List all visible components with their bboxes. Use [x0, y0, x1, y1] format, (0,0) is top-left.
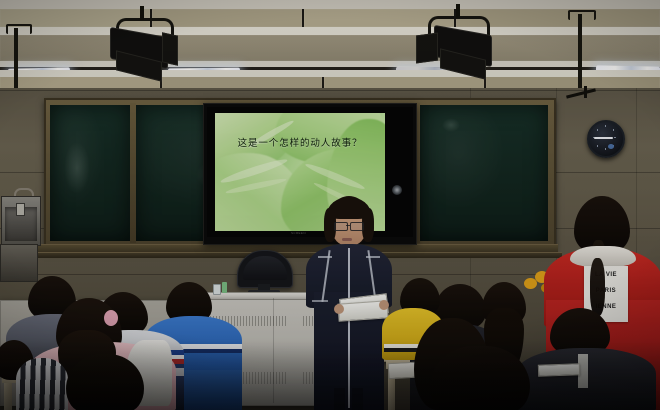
ceiling-beam	[0, 27, 660, 35]
wall-clock	[587, 120, 625, 158]
monitor-screen	[243, 256, 287, 280]
clock-tick	[605, 125, 606, 127]
coat-placket	[348, 248, 350, 408]
screen-logo-icon	[392, 185, 402, 195]
ceiling-beam	[0, 70, 660, 77]
chalk-smudge	[442, 118, 460, 132]
classroom-photo: 这是一个怎样的动人故事？ SCREEN	[0, 0, 660, 410]
soap-dispenser	[16, 203, 25, 216]
stage-light-barn-door	[162, 32, 178, 65]
teacher-glasses	[350, 222, 364, 231]
student-front-left-striped	[0, 340, 66, 410]
cuff-trim	[312, 300, 328, 302]
teacher-mouth	[342, 238, 352, 241]
teacher-glasses	[334, 222, 348, 231]
clock-tick	[614, 137, 616, 138]
clock-tick	[597, 129, 598, 131]
student-bottom-center	[430, 346, 530, 410]
stage-light-stem	[456, 4, 460, 18]
desk-papers	[538, 363, 580, 376]
coat-trim	[366, 256, 380, 258]
clock-brand-dot	[608, 144, 614, 149]
clock-hour-hand	[603, 137, 612, 139]
student-jacket	[16, 358, 68, 410]
student-hair	[430, 346, 530, 410]
chalkboard-surface-right	[420, 105, 548, 241]
clock-tick	[597, 145, 598, 147]
student-front-center	[66, 354, 144, 410]
stage-light-right	[412, 16, 502, 74]
teacher-hand	[334, 304, 344, 314]
chalk-smudge	[64, 142, 90, 194]
coat-trim	[318, 256, 332, 258]
teacher-leg	[352, 388, 363, 410]
ceiling-beam	[0, 0, 660, 9]
ceiling-beam	[0, 61, 660, 67]
slide-title: 这是一个怎样的动人故事？	[215, 135, 385, 149]
student-hair	[66, 354, 144, 410]
cabinet-seam	[273, 298, 274, 403]
stage-light-barn-door	[416, 32, 438, 63]
ceiling	[0, 0, 660, 96]
stage-light-left	[108, 18, 188, 74]
wall-sink-unit	[1, 196, 41, 246]
clock-tick	[605, 148, 606, 150]
hair-tie	[104, 310, 118, 326]
teacher-leg	[334, 388, 345, 410]
chalkboard-shelf	[34, 252, 562, 258]
wall-seam	[0, 90, 660, 91]
ceiling-tile	[0, 35, 660, 61]
chalkboard-surface-left	[50, 105, 130, 241]
ceiling-rod-hook	[568, 10, 596, 20]
clock-tick	[613, 129, 614, 131]
wall-bracket	[584, 86, 587, 98]
glasses-bridge	[346, 225, 350, 226]
stage-light-stem	[140, 6, 144, 20]
ceiling-rod-hook	[6, 24, 32, 34]
